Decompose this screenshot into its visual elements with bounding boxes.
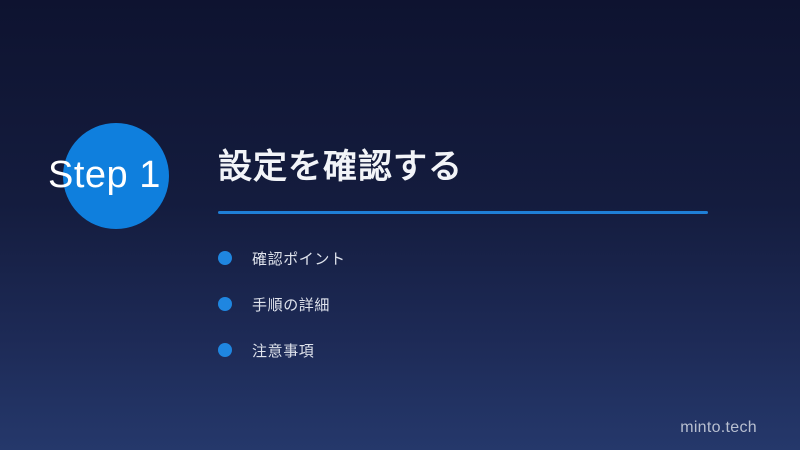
list-item: 手順の詳細 (218, 281, 718, 327)
slide-title: 設定を確認する (218, 145, 463, 189)
list-item: 注意事項 (218, 327, 718, 373)
title-divider (218, 211, 708, 214)
list-item: 確認ポイント (218, 235, 718, 281)
bullet-list: 確認ポイント 手順の詳細 注意事項 (218, 235, 718, 373)
step-badge-label: Step 1 (48, 150, 208, 200)
list-item-label: 手順の詳細 (252, 294, 330, 315)
slide-canvas: Step 1 設定を確認する 確認ポイント 手順の詳細 注意事項 minto.t… (0, 0, 800, 450)
list-item-label: 注意事項 (252, 340, 314, 361)
bullet-dot-icon (218, 343, 232, 357)
bullet-dot-icon (218, 251, 232, 265)
list-item-label: 確認ポイント (252, 248, 346, 269)
footer-brand: minto.tech (680, 419, 757, 437)
bullet-dot-icon (218, 297, 232, 311)
